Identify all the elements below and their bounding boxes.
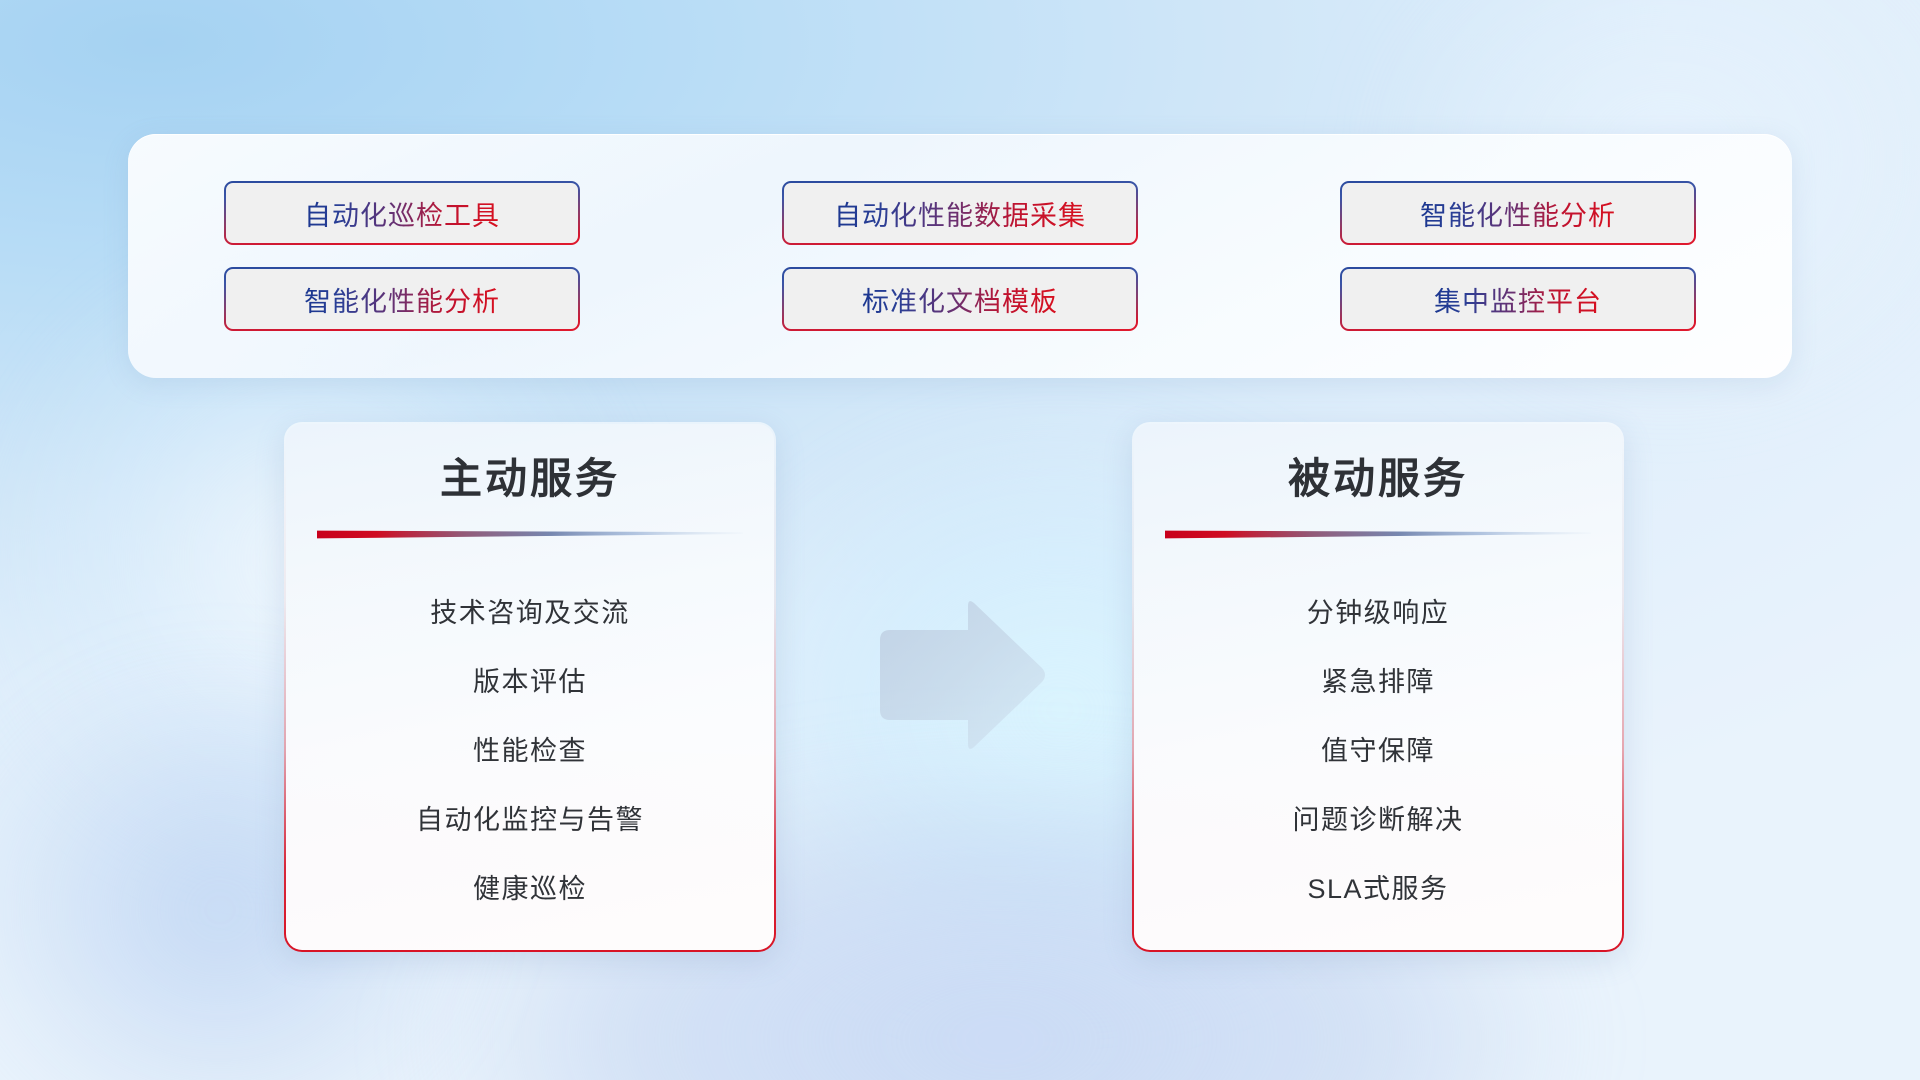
capability-pill-surface: 标准化文档模板 bbox=[784, 269, 1136, 329]
capability-pill-standardized-document-template[interactable]: 标准化文档模板 bbox=[782, 267, 1138, 331]
capability-pill-label: 智能化性能分析 bbox=[304, 280, 500, 319]
service-card-title: 被动服务 bbox=[1288, 454, 1468, 504]
service-card-list: 技术咨询及交流 版本评估 性能检查 自动化监控与告警 健康巡检 bbox=[286, 579, 774, 924]
list-item: 问题诊断解决 bbox=[1293, 786, 1464, 855]
title-divider bbox=[1165, 528, 1591, 539]
capability-pill-label: 标准化文档模板 bbox=[862, 280, 1058, 319]
capability-pill-label: 自动化性能数据采集 bbox=[834, 194, 1086, 233]
service-card-reactive: 被动服务 分钟级响应 紧急排障 值守保障 bbox=[1132, 422, 1624, 952]
capability-pill-surface: 智能化性能分析 bbox=[1342, 183, 1694, 243]
list-item: 分钟级响应 bbox=[1307, 579, 1450, 648]
capability-pill-automated-inspection-tool[interactable]: 自动化巡检工具 bbox=[224, 181, 580, 245]
service-card-title: 主动服务 bbox=[440, 454, 620, 504]
capability-pill-centralized-monitoring-platform[interactable]: 集中监控平台 bbox=[1340, 267, 1696, 331]
service-card-surface: 被动服务 分钟级响应 紧急排障 值守保障 bbox=[1134, 424, 1622, 950]
capability-pill-label: 自动化巡检工具 bbox=[304, 194, 500, 233]
list-item: 健康巡检 bbox=[473, 855, 587, 924]
capabilities-row-1: 自动化巡检工具 自动化性能数据采集 智能化性能分析 bbox=[224, 181, 1696, 245]
list-item: 值守保障 bbox=[1321, 717, 1435, 786]
capability-pill-intelligent-performance-analysis-2[interactable]: 智能化性能分析 bbox=[224, 267, 580, 331]
capabilities-panel: 自动化巡检工具 自动化性能数据采集 智能化性能分析 智能化性能分析 标准化文档模… bbox=[128, 134, 1792, 378]
capability-pill-label: 集中监控平台 bbox=[1434, 280, 1602, 319]
list-item: 紧急排障 bbox=[1321, 648, 1435, 717]
list-item: 版本评估 bbox=[473, 648, 587, 717]
list-item: 技术咨询及交流 bbox=[430, 579, 630, 648]
right-arrow-icon bbox=[872, 600, 1048, 750]
capability-pill-surface: 智能化性能分析 bbox=[226, 269, 578, 329]
capability-pill-automated-performance-data-collection[interactable]: 自动化性能数据采集 bbox=[782, 181, 1138, 245]
capability-pill-label: 智能化性能分析 bbox=[1420, 194, 1616, 233]
capabilities-row-2: 智能化性能分析 标准化文档模板 集中监控平台 bbox=[224, 267, 1696, 331]
service-card-list: 分钟级响应 紧急排障 值守保障 问题诊断解决 SLA式服务 bbox=[1134, 579, 1622, 924]
service-card-surface: 主动服务 技术咨询及交流 版本评估 性能检查 bbox=[286, 424, 774, 950]
capability-pill-surface: 自动化性能数据采集 bbox=[784, 183, 1136, 243]
title-divider bbox=[317, 528, 743, 539]
list-item: 自动化监控与告警 bbox=[416, 786, 644, 855]
list-item: 性能检查 bbox=[473, 717, 587, 786]
service-card-proactive: 主动服务 技术咨询及交流 版本评估 性能检查 bbox=[284, 422, 776, 952]
capability-pill-intelligent-performance-analysis[interactable]: 智能化性能分析 bbox=[1340, 181, 1696, 245]
list-item: SLA式服务 bbox=[1307, 855, 1448, 924]
capability-pill-surface: 集中监控平台 bbox=[1342, 269, 1694, 329]
capability-pill-surface: 自动化巡检工具 bbox=[226, 183, 578, 243]
